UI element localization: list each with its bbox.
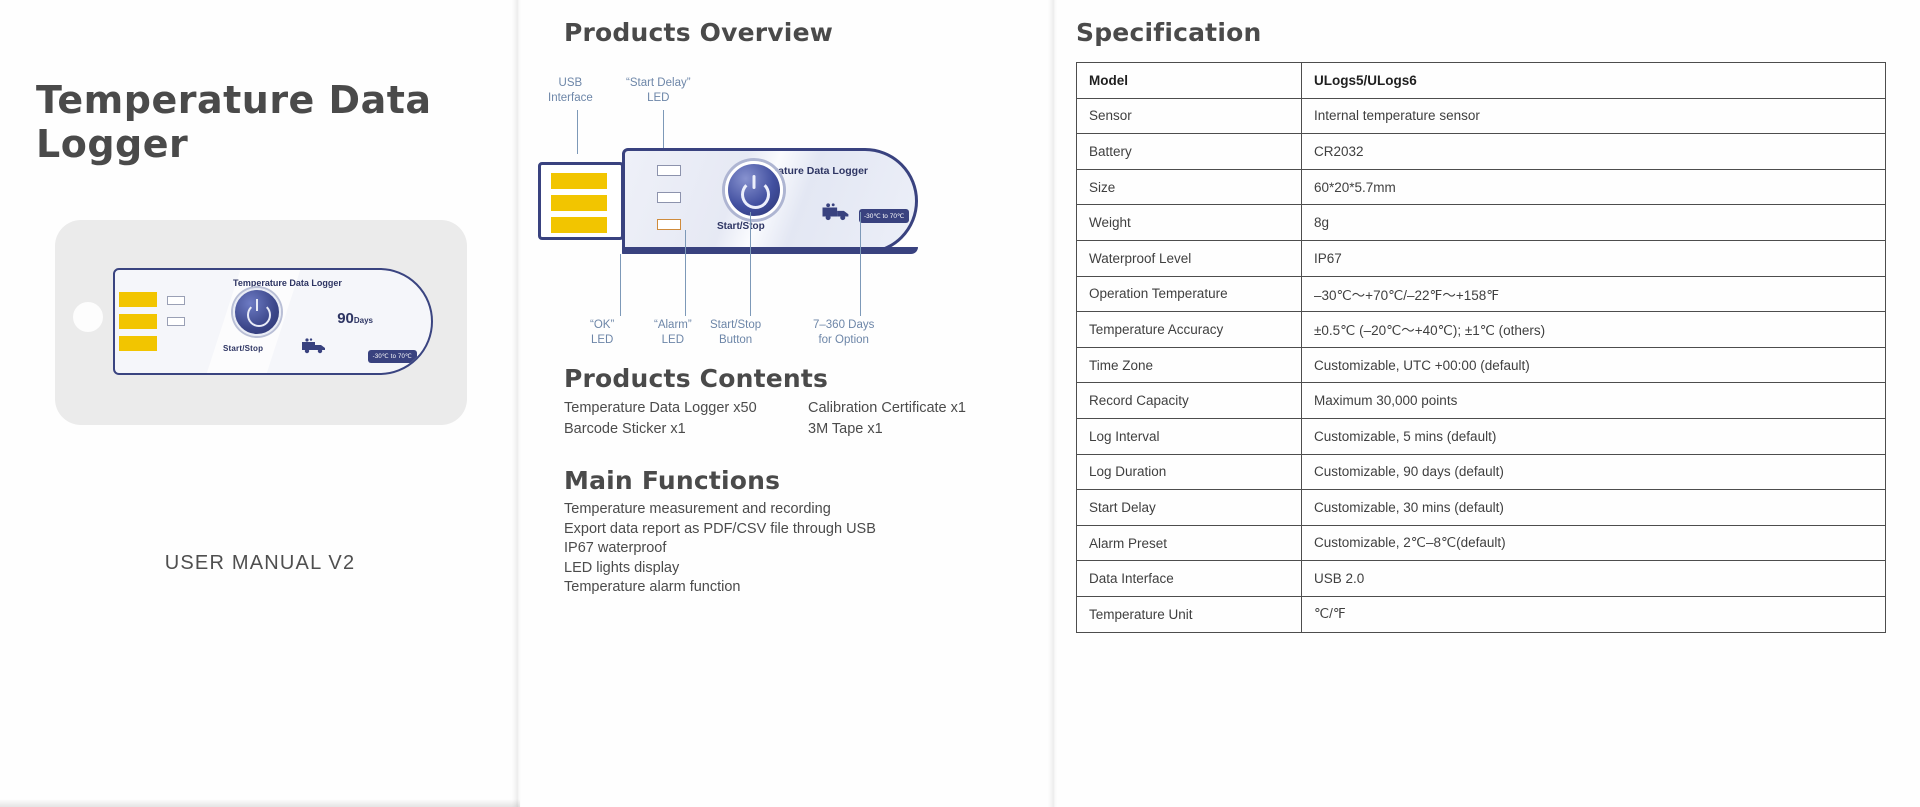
spec-key: Start Delay — [1077, 490, 1302, 526]
page-edge-shadow — [0, 799, 520, 807]
led-ok-icon — [657, 192, 681, 203]
callout-start-stop-button: Start/Stop Button — [710, 318, 761, 348]
table-row: Data Interface USB 2.0 — [1077, 561, 1886, 597]
cover-start-stop-label: Start/Stop — [223, 344, 263, 353]
function-item: Temperature measurement and recording — [564, 500, 876, 520]
spec-key: Waterproof Level — [1077, 240, 1302, 276]
diagram-start-stop-label: Start/Stop — [717, 221, 765, 232]
user-manual-label: USER MANUAL V2 — [0, 552, 520, 575]
spec-value: Customizable, UTC +00:00 (default) — [1302, 347, 1886, 383]
usb-connector-icon — [119, 290, 157, 356]
spec-value: ULogs5/ULogs6 — [1302, 63, 1886, 99]
diagram-device-body: Temperature Data Logger Start/Stop -30℃ … — [622, 148, 918, 254]
table-row: Log Interval Customizable, 5 mins (defau… — [1077, 418, 1886, 454]
led-ok-icon — [167, 296, 185, 305]
table-row: Temperature Unit ℃/℉ — [1077, 596, 1886, 632]
spec-value: Internal temperature sensor — [1302, 98, 1886, 134]
callout-start-delay-led: “Start Delay” LED — [626, 76, 691, 106]
leader-line-ok — [620, 254, 621, 316]
diagram-temp-range-badge: -30℃ to 70℃ — [859, 209, 909, 223]
cover-device-body: Temperature Data Logger Start/Stop 90Day… — [113, 268, 433, 375]
table-row: Record Capacity Maximum 30,000 points — [1077, 383, 1886, 419]
heading-products-contents: Products Contents — [564, 364, 828, 393]
diagram-truck-icon — [821, 203, 851, 221]
spec-value: Customizable, 30 mins (default) — [1302, 490, 1886, 526]
table-row: Waterproof Level IP67 — [1077, 240, 1886, 276]
spec-value: 60*20*5.7mm — [1302, 169, 1886, 205]
spec-value: ±0.5℃ (–20℃～+40℃); ±1℃ (others) — [1302, 312, 1886, 348]
callout-alarm-line1: “Alarm” — [654, 318, 692, 333]
power-button-icon — [233, 288, 281, 336]
spec-key: Alarm Preset — [1077, 525, 1302, 561]
callout-ok-line2: LED — [590, 333, 614, 348]
spec-value: ℃/℉ — [1302, 596, 1886, 632]
callout-usb-interface: USB Interface — [548, 76, 593, 106]
callout-days-line2: for Option — [813, 333, 874, 348]
contents-item: 3M Tape x1 — [808, 419, 883, 440]
table-row: Start Delay Customizable, 30 mins (defau… — [1077, 490, 1886, 526]
callout-start-delay-line2: LED — [626, 91, 691, 106]
specification-table: Model ULogs5/ULogs6 Sensor Internal temp… — [1076, 62, 1886, 633]
function-item: LED lights display — [564, 559, 876, 579]
led-start-delay-icon — [657, 165, 681, 176]
heading-products-overview: Products Overview — [564, 18, 833, 47]
manual-page: Temperature Data Logger Temperature Data… — [0, 0, 1920, 807]
table-row: Weight 8g — [1077, 205, 1886, 241]
function-item: IP67 waterproof — [564, 539, 876, 559]
specification-panel: Specification Model ULogs5/ULogs6 Sensor… — [1048, 0, 1920, 807]
spec-key: Record Capacity — [1077, 383, 1302, 419]
table-row: Model ULogs5/ULogs6 — [1077, 63, 1886, 99]
callout-days-line1: 7–360 Days — [813, 318, 874, 333]
spec-key: Data Interface — [1077, 561, 1302, 597]
spec-value: 8g — [1302, 205, 1886, 241]
contents-item: Calibration Certificate x1 — [808, 398, 966, 419]
spec-value: Customizable, 5 mins (default) — [1302, 418, 1886, 454]
heading-main-functions: Main Functions — [564, 466, 780, 495]
cover-device-brand-text: Temperature Data Logger — [233, 278, 342, 288]
spec-key: Battery — [1077, 134, 1302, 170]
lanyard-hole — [73, 302, 103, 332]
table-row: Battery CR2032 — [1077, 134, 1886, 170]
led-alarm-icon — [657, 219, 681, 230]
spec-value: Customizable, 2℃–8℃(default) — [1302, 525, 1886, 561]
main-functions-list: Temperature measurement and recording Ex… — [564, 500, 876, 598]
products-contents-list: Temperature Data Logger x50 Calibration … — [564, 398, 1034, 440]
spec-key: Temperature Unit — [1077, 596, 1302, 632]
spec-value: Customizable, 90 days (default) — [1302, 454, 1886, 490]
cover-days-number: 90 — [337, 310, 354, 327]
spec-key: Temperature Accuracy — [1077, 312, 1302, 348]
heading-specification: Specification — [1076, 18, 1261, 47]
callout-button-line1: Start/Stop — [710, 318, 761, 333]
cover-days-unit: Days — [354, 316, 373, 325]
led-alarm-icon — [167, 317, 185, 326]
cover-days-value: 90Days — [337, 310, 373, 327]
spec-key: Model — [1077, 63, 1302, 99]
leader-line-usb — [577, 110, 578, 154]
callout-alarm-led: “Alarm” LED — [654, 318, 692, 348]
table-row: Temperature Accuracy ±0.5℃ (–20℃～+40℃); … — [1077, 312, 1886, 348]
function-item: Temperature alarm function — [564, 578, 876, 598]
product-overview-diagram: USB Interface “Start Delay” LED Temperat… — [530, 70, 1030, 350]
spec-value: IP67 — [1302, 240, 1886, 276]
table-row: Operation Temperature –30℃～+70℃/–22℉～+15… — [1077, 276, 1886, 312]
middle-panel: Products Overview USB Interface “Start D… — [520, 0, 1048, 807]
function-item: Export data report as PDF/CSV file throu… — [564, 520, 876, 540]
spec-key: Log Duration — [1077, 454, 1302, 490]
leader-line-days-option — [860, 212, 861, 316]
spec-key: Log Interval — [1077, 418, 1302, 454]
cover-title: Temperature Data Logger — [36, 78, 520, 166]
cover-product-photo: Temperature Data Logger Start/Stop 90Day… — [55, 220, 467, 425]
contents-row: Temperature Data Logger x50 Calibration … — [564, 398, 1034, 419]
callout-days-option: 7–360 Days for Option — [813, 318, 874, 348]
diagram-led-stack — [657, 165, 681, 246]
leader-line-alarm — [685, 230, 686, 316]
contents-item: Temperature Data Logger x50 — [564, 398, 808, 419]
spec-value: –30℃～+70℃/–22℉～+158℉ — [1302, 276, 1886, 312]
spec-value: USB 2.0 — [1302, 561, 1886, 597]
table-row: Size 60*20*5.7mm — [1077, 169, 1886, 205]
cover-panel: Temperature Data Logger Temperature Data… — [0, 0, 520, 807]
spec-key: Operation Temperature — [1077, 276, 1302, 312]
table-row: Time Zone Customizable, UTC +00:00 (defa… — [1077, 347, 1886, 383]
contents-row: Barcode Sticker x1 3M Tape x1 — [564, 419, 1034, 440]
spec-value: CR2032 — [1302, 134, 1886, 170]
callout-usb-line1: USB — [548, 76, 593, 91]
diagram-power-button-icon — [725, 161, 783, 219]
table-row: Log Duration Customizable, 90 days (defa… — [1077, 454, 1886, 490]
callout-start-delay-line1: “Start Delay” — [626, 76, 691, 91]
spec-key: Size — [1077, 169, 1302, 205]
callout-alarm-line2: LED — [654, 333, 692, 348]
spec-key: Weight — [1077, 205, 1302, 241]
led-indicators — [167, 296, 185, 338]
spec-key: Sensor — [1077, 98, 1302, 134]
callout-usb-line2: Interface — [548, 91, 593, 106]
callout-ok-line1: “OK” — [590, 318, 614, 333]
table-row: Sensor Internal temperature sensor — [1077, 98, 1886, 134]
spec-value: Maximum 30,000 points — [1302, 383, 1886, 419]
diagram-usb-connector-icon — [538, 162, 624, 240]
truck-icon — [301, 338, 327, 354]
callout-ok-led: “OK” LED — [590, 318, 614, 348]
table-row: Alarm Preset Customizable, 2℃–8℃(default… — [1077, 525, 1886, 561]
spec-key: Time Zone — [1077, 347, 1302, 383]
cover-temp-range-badge: -30℃ to 70℃ — [368, 350, 417, 363]
leader-line-button — [750, 212, 751, 316]
contents-item: Barcode Sticker x1 — [564, 419, 808, 440]
callout-button-line2: Button — [710, 333, 761, 348]
